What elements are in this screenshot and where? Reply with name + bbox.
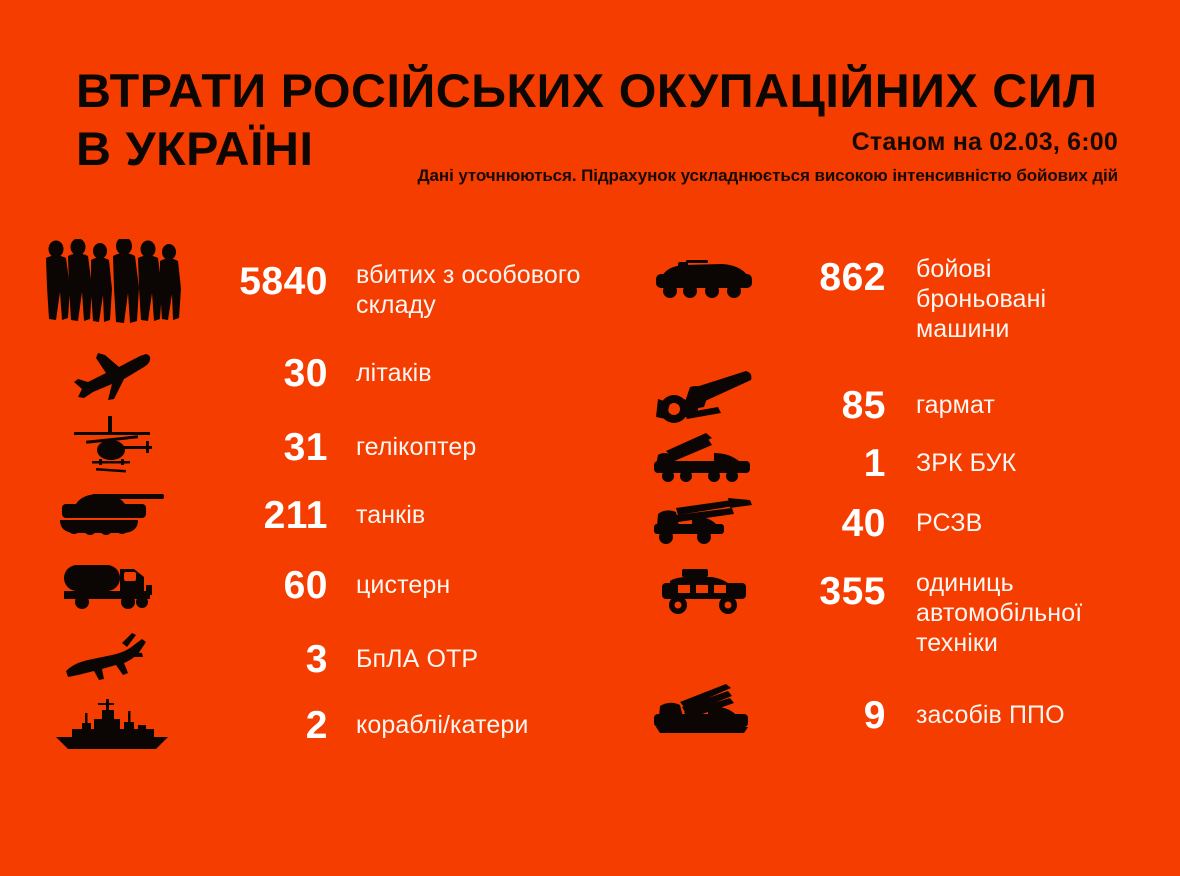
- stat-row: 85 гармат: [640, 368, 1160, 426]
- stat-row: 862 бойові броньовані машини: [640, 250, 1160, 344]
- poster-footer: #StopRussianAggression #RussiaInvadedUkr…: [0, 766, 1180, 876]
- stat-label: вбитих з особового складу: [328, 238, 581, 320]
- stat-value: 30: [188, 346, 328, 393]
- stat-label: гармат: [886, 368, 995, 420]
- airplane-icon: [36, 346, 188, 402]
- poster-header: ВТРАТИ РОСІЙСЬКИХ ОКУПАЦІЙНИХ СИЛ В УКРА…: [0, 0, 1180, 200]
- stat-value: 1: [768, 428, 886, 483]
- military-jeep-icon: [640, 564, 768, 620]
- howitzer-cannon-icon: [640, 368, 768, 426]
- mlrs-rocket-launcher-icon: [640, 490, 768, 548]
- infographic-poster: ВТРАТИ РОСІЙСЬКИХ ОКУПАЦІЙНИХ СИЛ В УКРА…: [0, 0, 1180, 876]
- drone-uav-icon: [36, 630, 188, 684]
- stat-label: засобів ППО: [886, 678, 1065, 730]
- stat-row: 40 РСЗВ: [640, 490, 1160, 548]
- stat-value: 9: [768, 678, 886, 735]
- stat-value: 862: [768, 250, 886, 297]
- stat-row: 2 кораблі/катери: [36, 696, 616, 754]
- page-title: ВТРАТИ РОСІЙСЬКИХ ОКУПАЦІЙНИХ СИЛ В УКРА…: [76, 62, 1168, 178]
- stat-value: 60: [188, 554, 328, 605]
- stat-value: 3: [188, 630, 328, 679]
- stat-row: 3 БпЛА ОТР: [36, 630, 616, 684]
- stat-value: 31: [188, 414, 328, 467]
- tank-icon: [36, 486, 188, 542]
- stat-label: гелікоптер: [328, 414, 476, 462]
- stat-label: танків: [328, 486, 425, 530]
- stat-value: 5840: [188, 238, 328, 301]
- stat-label: одиниць автомобільної техніки: [886, 564, 1082, 658]
- stat-value: 85: [768, 368, 886, 425]
- stat-row: 60 цистерн: [36, 554, 616, 614]
- air-defense-system-icon: [640, 678, 768, 738]
- disclaimer-text: Дані уточнюються. Підрахунок ускладнюєть…: [418, 166, 1118, 186]
- stat-row: 211 танків: [36, 486, 616, 542]
- stat-row: 30 літаків: [36, 346, 616, 402]
- as-of-timestamp: Станом на 02.03, 6:00: [852, 128, 1118, 157]
- stat-row: 355 одиниць автомобільної техніки: [640, 564, 1160, 658]
- stat-row: 31 гелікоптер: [36, 414, 616, 476]
- stat-label: БпЛА ОТР: [328, 630, 478, 674]
- stat-value: 355: [768, 564, 886, 611]
- stat-label: бойові броньовані машини: [886, 250, 1046, 344]
- buk-sam-launcher-icon: [640, 428, 768, 486]
- stat-label: РСЗВ: [886, 490, 982, 538]
- stat-value: 2: [188, 696, 328, 745]
- stat-label: літаків: [328, 346, 432, 388]
- stat-row: 1 ЗРК БУК: [640, 428, 1160, 486]
- stat-label: ЗРК БУК: [886, 428, 1016, 478]
- soldiers-crowd-icon: [36, 238, 188, 324]
- fuel-tanker-truck-icon: [36, 554, 188, 614]
- stat-label: цистерн: [328, 554, 450, 600]
- helicopter-icon: [36, 414, 188, 476]
- warship-icon: [36, 696, 188, 754]
- stat-value: 40: [768, 490, 886, 543]
- stat-label: кораблі/катери: [328, 696, 528, 740]
- stat-row: 9 засобів ППО: [640, 678, 1160, 738]
- stat-value: 211: [188, 486, 328, 535]
- armored-personnel-carrier-icon: [640, 250, 768, 306]
- stat-row: 5840 вбитих з особового складу: [36, 238, 616, 324]
